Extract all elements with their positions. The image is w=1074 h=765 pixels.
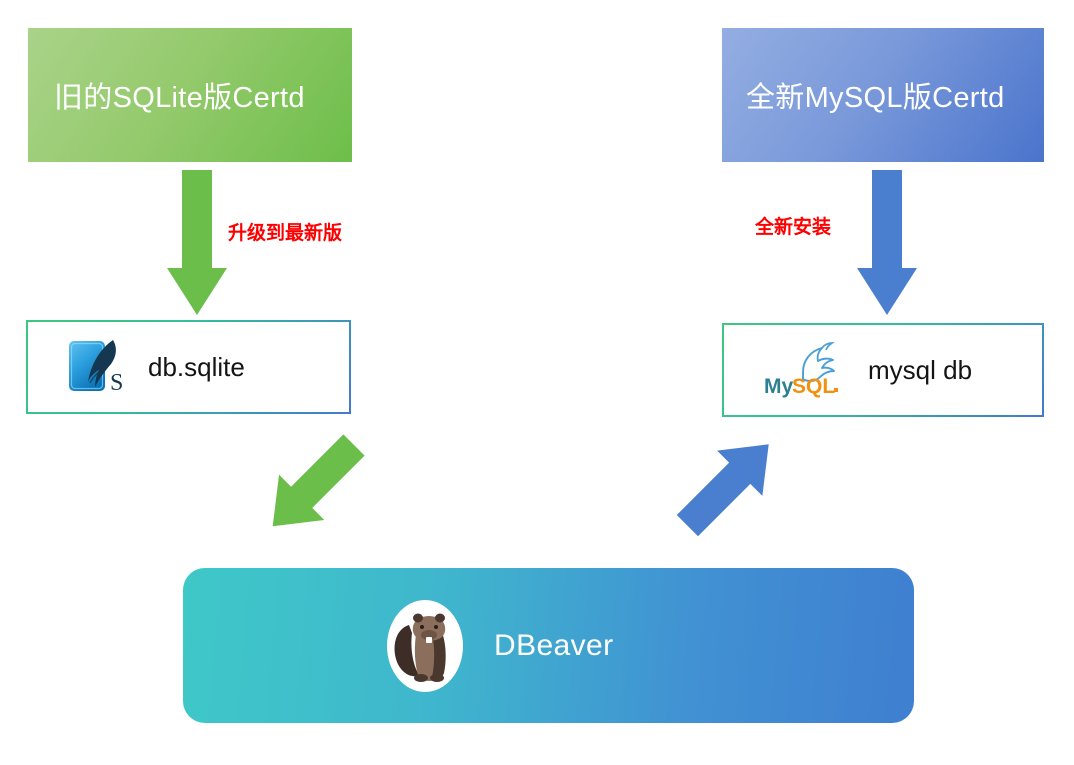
mysql-logo-my-text: My <box>764 375 793 398</box>
mysql-logo-sql-text: SQL <box>792 375 835 398</box>
svg-text:S: S <box>110 370 123 396</box>
dbeaver-beaver-icon <box>386 599 464 693</box>
node-dbeaver: DBeaver <box>183 568 914 723</box>
node-mysql-db-label: mysql db <box>868 355 972 386</box>
arrow-sqlite-to-dbeaver-icon <box>248 424 378 554</box>
arrow-upgrade-down-icon <box>166 170 228 321</box>
node-new-certd: 全新MySQL版Certd <box>722 28 1044 162</box>
node-mysql-db: My SQL mysql db <box>722 323 1044 417</box>
arrow-fresh-install-down-icon <box>856 170 918 321</box>
node-dbeaver-label: DBeaver <box>494 629 614 663</box>
mysql-logo-icon: My SQL <box>762 341 848 399</box>
node-sqlite-db: S db.sqlite <box>26 320 351 414</box>
node-sqlite-db-label: db.sqlite <box>148 352 245 383</box>
node-old-certd-label: 旧的SQLite版Certd <box>54 74 305 116</box>
edge-label-upgrade: 升级到最新版 <box>228 218 342 245</box>
arrow-dbeaver-to-mysql-icon <box>660 424 795 554</box>
node-old-certd: 旧的SQLite版Certd <box>28 28 352 162</box>
diagram-canvas: 旧的SQLite版Certd 全新MySQL版Certd 升级到最新版 全新安装 <box>0 0 1074 765</box>
node-new-certd-label: 全新MySQL版Certd <box>746 74 1005 116</box>
sqlite-logo-icon: S <box>66 337 128 397</box>
edge-label-fresh-install: 全新安装 <box>755 212 831 239</box>
